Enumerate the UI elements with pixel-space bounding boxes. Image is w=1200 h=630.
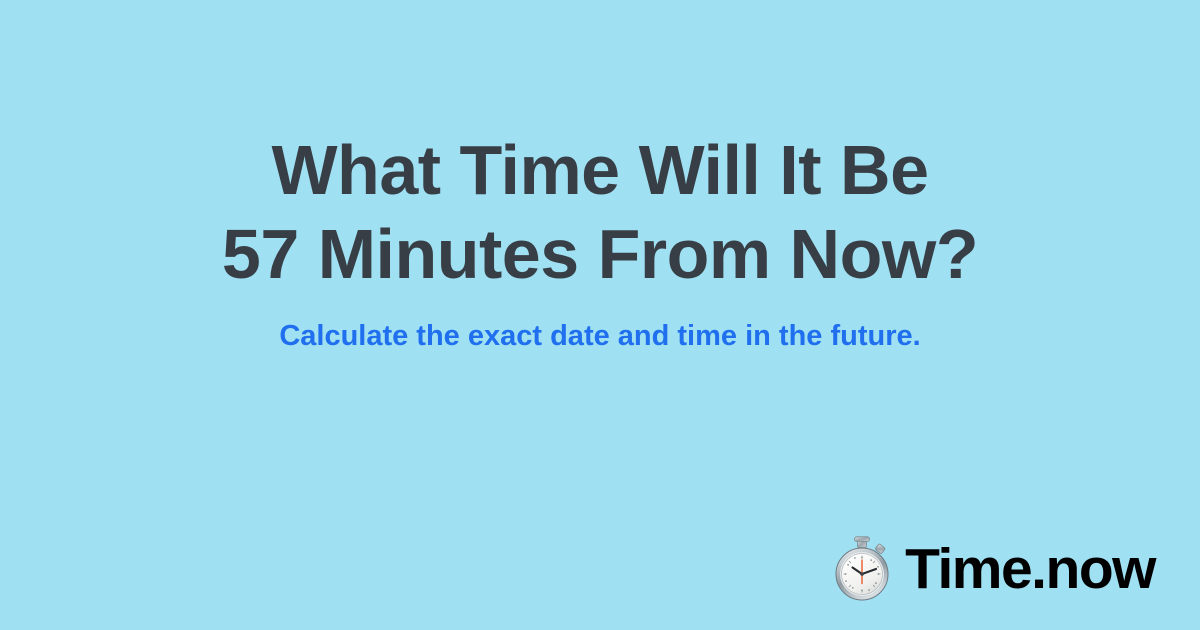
brand-name: Time.now xyxy=(905,539,1155,599)
hero-section: What Time Will It Be 57 Minutes From Now… xyxy=(0,128,1200,354)
page-subtitle: Calculate the exact date and time in the… xyxy=(0,318,1200,354)
promo-card: What Time Will It Be 57 Minutes From Now… xyxy=(0,0,1200,630)
page-title: What Time Will It Be 57 Minutes From Now… xyxy=(0,128,1200,296)
brand-logo[interactable]: Time.now xyxy=(831,536,1155,602)
stopwatch-icon xyxy=(831,536,893,602)
page-title-line-1: What Time Will It Be xyxy=(0,128,1200,212)
page-title-line-2: 57 Minutes From Now? xyxy=(0,212,1200,296)
